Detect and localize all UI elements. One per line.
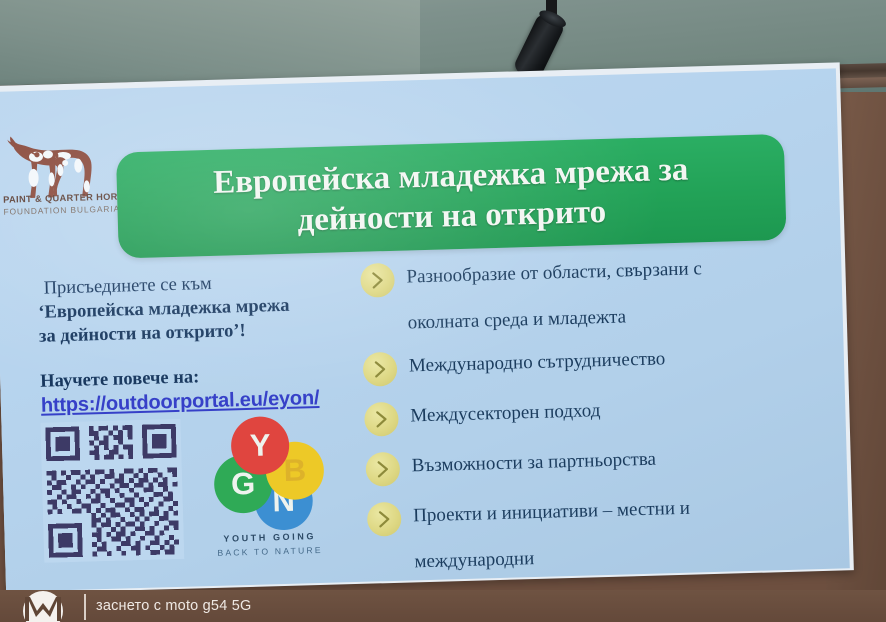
slide-content: PAINT & QUARTER HORSE FOUNDATION BULGARI… (0, 68, 850, 591)
bullet-indent-spacer (361, 306, 407, 308)
qr-code-image (40, 419, 184, 563)
bullet-item: Международно сътрудничество (363, 338, 824, 387)
chevron-right-icon (360, 263, 395, 298)
bullet-text: Междусекторен подход (410, 394, 601, 428)
chevron-right-icon (367, 501, 402, 536)
bullet-continuation-row: околната среда и младежта (361, 295, 822, 337)
bullet-text: Проекти и инициативи – местни и (413, 491, 691, 527)
watermark-divider (84, 594, 86, 620)
left-text-column: Присъединете се към ‘Европейска младежка… (37, 268, 361, 418)
bullet-text: Възможности за партньорства (411, 442, 656, 478)
horse-logo-line2: FOUNDATION BULGARIA (3, 204, 103, 217)
chevron-right-icon (365, 452, 400, 487)
ygbn-logo: Y B G N YOUTH GOING BACK TO NATURE (206, 415, 330, 568)
bullet-continuation: околната среда и младежта (407, 300, 626, 335)
chevron-right-icon (363, 352, 398, 387)
bullet-continuation: международни (414, 542, 535, 574)
bullet-item: Междусекторен подход (364, 388, 825, 437)
photograph-of-projected-slide: PAINT & QUARTER HORSE FOUNDATION BULGARI… (0, 0, 886, 622)
slide-title: Европейска младежка мрежа за дейности на… (189, 149, 714, 244)
slide-title-banner: Европейска младежка мрежа за дейности на… (116, 134, 787, 259)
chevron-right-icon (364, 402, 399, 437)
outdoor-portal-link[interactable]: https://outdoorportal.eu/eyon/ (41, 387, 320, 418)
bullet-indent-spacer (368, 545, 414, 547)
paint-quarter-horse-logo: PAINT & QUARTER HORSE FOUNDATION BULGARI… (0, 131, 106, 222)
ygbn-caption-line1: YOUTH GOING (210, 531, 330, 544)
ygbn-circles: Y B G N (206, 415, 329, 530)
bullet-item: Проекти и инициативи – местни и (367, 488, 828, 537)
bullet-text: Разнообразие от области, свързани с (406, 252, 702, 289)
bullet-continuation-row: международни (368, 534, 829, 576)
bullet-list: Разнообразие от области, свързани с окол… (360, 249, 829, 577)
projection-screen: PAINT & QUARTER HORSE FOUNDATION BULGARI… (0, 62, 854, 593)
motorola-batwing-icon (12, 591, 74, 622)
motorola-logo (12, 591, 74, 622)
watermark-text: заснето с moto g54 5G (96, 598, 251, 614)
ygbn-caption-line2: BACK TO NATURE (210, 545, 330, 558)
bullet-item: Разнообразие от области, свързани с (360, 249, 821, 298)
bullet-text: Международно сътрудничество (409, 342, 666, 378)
bullet-item: Възможности за партньорства (365, 438, 826, 487)
qr-code[interactable] (40, 419, 184, 563)
